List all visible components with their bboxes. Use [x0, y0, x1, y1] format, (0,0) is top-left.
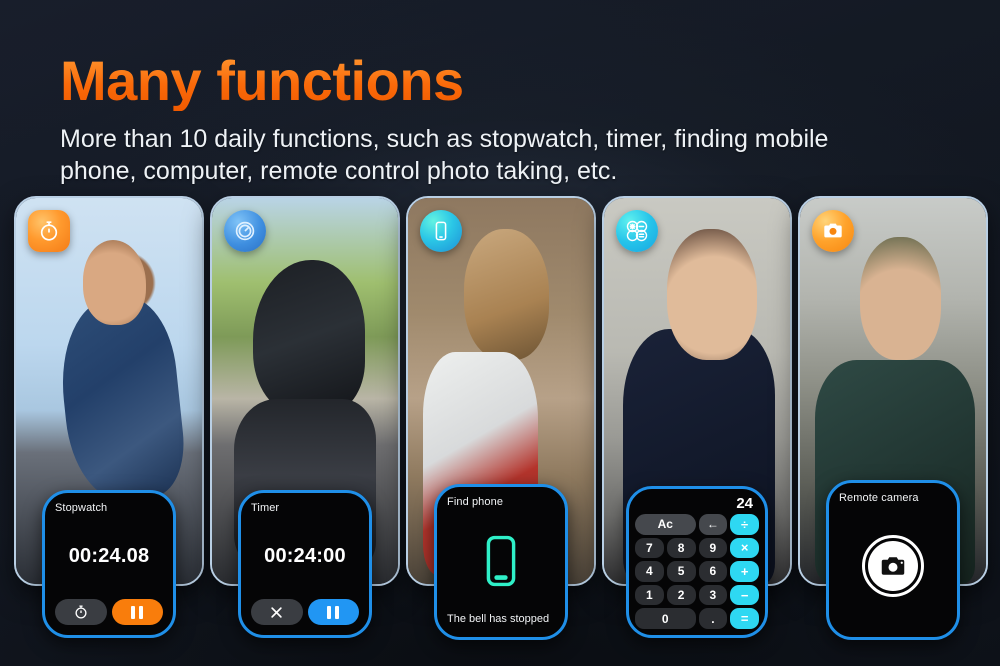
camera-icon [812, 210, 854, 252]
header: Many functions More than 10 daily functi… [60, 52, 940, 187]
key-backspace[interactable]: ← [699, 514, 728, 535]
timer-label: Timer [251, 502, 359, 514]
feature-cards: Stopwatch 00:24.08 Timer 00:24:00 [0, 196, 1000, 636]
pause-icon [327, 606, 339, 619]
page-title: Many functions [60, 52, 940, 111]
cancel-button[interactable] [251, 599, 303, 625]
key-3[interactable]: 3 [699, 585, 728, 606]
key-multiply[interactable]: × [730, 538, 759, 559]
camera-shutter-icon[interactable] [862, 535, 924, 597]
watch-face-stopwatch: Stopwatch 00:24.08 [42, 490, 176, 638]
key-7[interactable]: 7 [635, 538, 664, 559]
pause-button[interactable] [112, 599, 164, 625]
watch-face-remote-camera: Remote camera [826, 480, 960, 640]
calculator-keypad: Ac ← ÷ 7 8 9 × 4 5 6 + 1 2 3 − 0 . = [635, 514, 759, 629]
shutter-area [839, 504, 947, 627]
lap-button[interactable] [55, 599, 107, 625]
find-phone-icon-area [447, 508, 555, 613]
key-2[interactable]: 2 [667, 585, 696, 606]
calculator-display: 24 [635, 494, 759, 514]
page-subtitle: More than 10 daily functions, such as st… [60, 123, 890, 187]
key-5[interactable]: 5 [667, 561, 696, 582]
key-equals[interactable]: = [730, 608, 759, 629]
timer-value: 00:24:00 [264, 545, 346, 568]
key-4[interactable]: 4 [635, 561, 664, 582]
remote-camera-label: Remote camera [839, 492, 947, 504]
phone-icon [420, 210, 462, 252]
stopwatch-value: 00:24.08 [69, 545, 150, 568]
calculator-icon [616, 210, 658, 252]
key-8[interactable]: 8 [667, 538, 696, 559]
pause-icon [131, 606, 143, 619]
stopwatch-label: Stopwatch [55, 502, 163, 514]
watch-face-timer: Timer 00:24:00 [238, 490, 372, 638]
stopwatch-icon [28, 210, 70, 252]
stopwatch-controls [55, 599, 163, 625]
key-clear[interactable]: Ac [635, 514, 696, 535]
find-phone-label: Find phone [447, 496, 555, 508]
timer-icon [224, 210, 266, 252]
watch-face-find-phone: Find phone The bell has stopped [434, 484, 568, 640]
key-minus[interactable]: − [730, 585, 759, 606]
key-1[interactable]: 1 [635, 585, 664, 606]
shutter-inner [868, 541, 918, 591]
key-plus[interactable]: + [730, 561, 759, 582]
key-6[interactable]: 6 [699, 561, 728, 582]
find-phone-status: The bell has stopped [447, 613, 555, 627]
timer-controls [251, 599, 359, 625]
stopwatch-value-area: 00:24.08 [55, 514, 163, 599]
key-0[interactable]: 0 [635, 608, 696, 629]
key-divide[interactable]: ÷ [730, 514, 759, 535]
timer-value-area: 00:24:00 [251, 514, 359, 599]
key-decimal[interactable]: . [699, 608, 728, 629]
watch-face-calculator: 24 Ac ← ÷ 7 8 9 × 4 5 6 + 1 2 3 − 0 . = [626, 486, 768, 638]
pause-button[interactable] [308, 599, 360, 625]
page-background: Many functions More than 10 daily functi… [0, 0, 1000, 666]
key-9[interactable]: 9 [699, 538, 728, 559]
